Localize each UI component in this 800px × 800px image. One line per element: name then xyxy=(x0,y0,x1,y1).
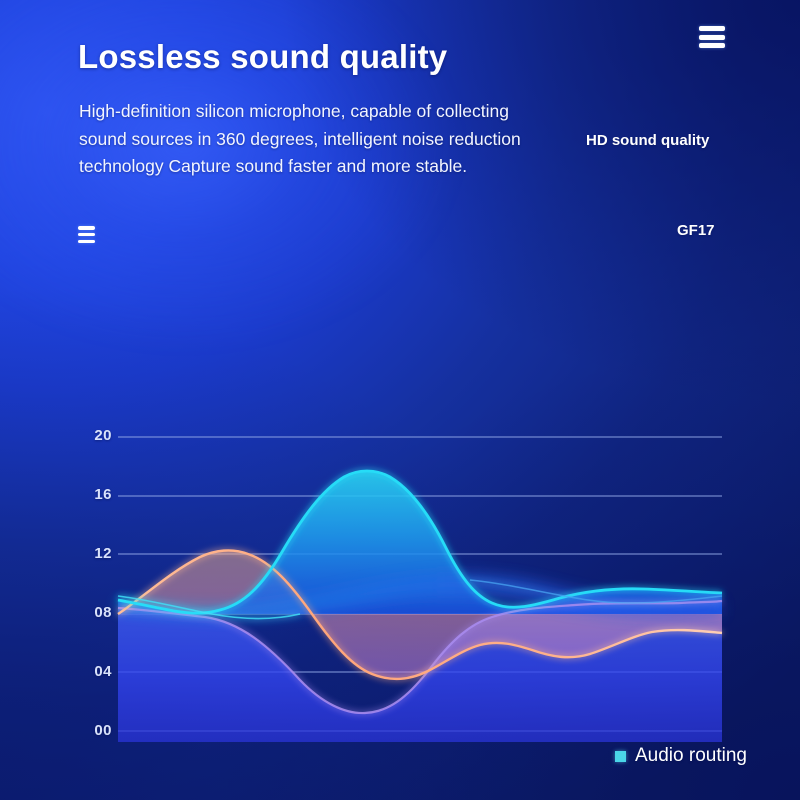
y-axis-tick-08: 08 xyxy=(72,604,112,621)
promo-page: Lossless sound quality High-definition s… xyxy=(0,0,800,800)
y-axis-tick-00: 00 xyxy=(72,722,112,739)
audio-waveform-chart xyxy=(0,0,800,800)
legend-swatch-icon xyxy=(615,751,626,762)
legend-label-audio-routing: Audio routing xyxy=(635,745,747,767)
y-axis-tick-16: 16 xyxy=(72,486,112,503)
y-axis-tick-12: 12 xyxy=(72,545,112,562)
y-axis-tick-20: 20 xyxy=(72,427,112,444)
y-axis-tick-04: 04 xyxy=(72,663,112,680)
chart-legend: Audio routing xyxy=(615,745,747,767)
